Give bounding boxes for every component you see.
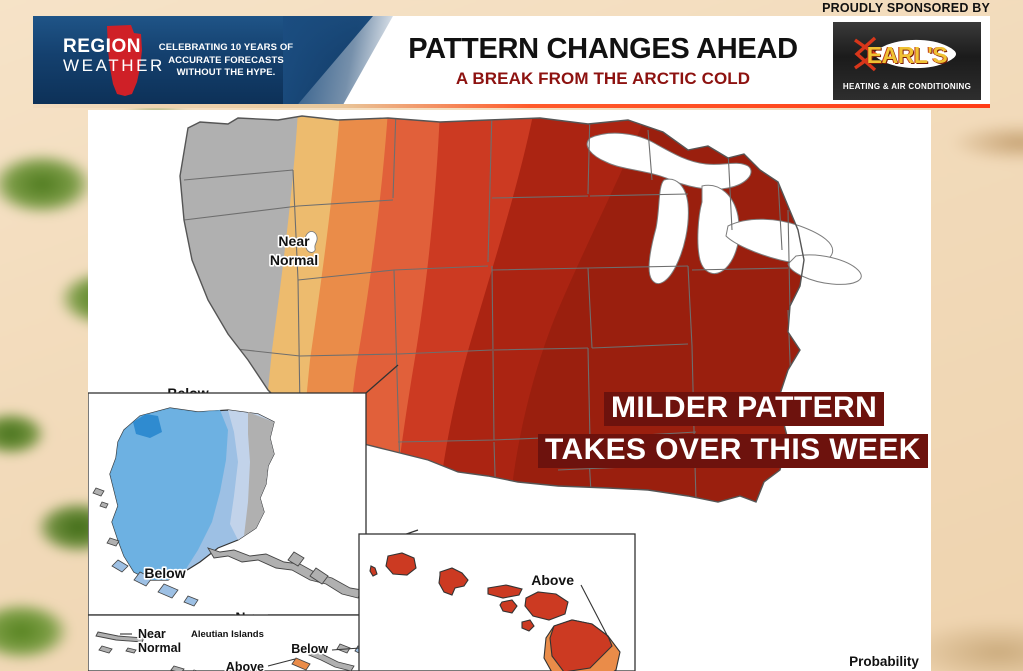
aleutian-inset: Near Normal Aleutian Islands Above Below [88, 615, 366, 671]
sponsored-by-label: PROUDLY SPONSORED BY [822, 1, 990, 15]
hawaii-inset: Above [359, 534, 635, 671]
banner-accent-rule [33, 104, 990, 108]
headline-text: PATTERN CHANGES AHEAD [363, 32, 843, 66]
label-aleutian-near-normal-2: Normal [138, 641, 181, 655]
label-aleutian-above: Above [226, 660, 264, 671]
content-card: Near Normal Below [88, 110, 931, 671]
header-banner: REGION WEATHER CELEBRATING 10 YEARS OF A… [33, 16, 990, 104]
overlay-line-1: MILDER PATTERN [604, 392, 884, 426]
probability-legend: Probability (Percent Chance) Above Norma… [724, 652, 1023, 671]
banner-tagline: CELEBRATING 10 YEARS OF ACCURATE FORECAS… [146, 42, 306, 80]
label-hawaii-above: Above [531, 572, 574, 588]
label-aleutian-below: Below [291, 642, 328, 656]
label-conus-near-normal-2: Normal [270, 252, 318, 268]
sponsor-name-text: EARL'S [833, 42, 981, 69]
label-aleutian-title: Aleutian Islands [191, 629, 264, 640]
sponsor-tagline-text: HEATING & AIR CONDITIONING [833, 82, 981, 91]
overlay-line-2: TAKES OVER THIS WEEK [538, 434, 928, 468]
label-aleutian-near-normal: Near [138, 627, 166, 641]
map-overlay-headline: MILDER PATTERN TAKES OVER THIS WEEK [508, 392, 978, 468]
subheadline-text: A BREAK FROM THE ARCTIC COLD [363, 68, 843, 90]
legend-title: Probability [724, 654, 1023, 669]
label-alaska-below: Below [144, 565, 185, 581]
label-conus-near-normal: Near [278, 233, 310, 249]
sponsor-logo[interactable]: EARL'S HEATING & AIR CONDITIONING [833, 22, 981, 100]
logo-region-text: REGION [63, 38, 141, 55]
